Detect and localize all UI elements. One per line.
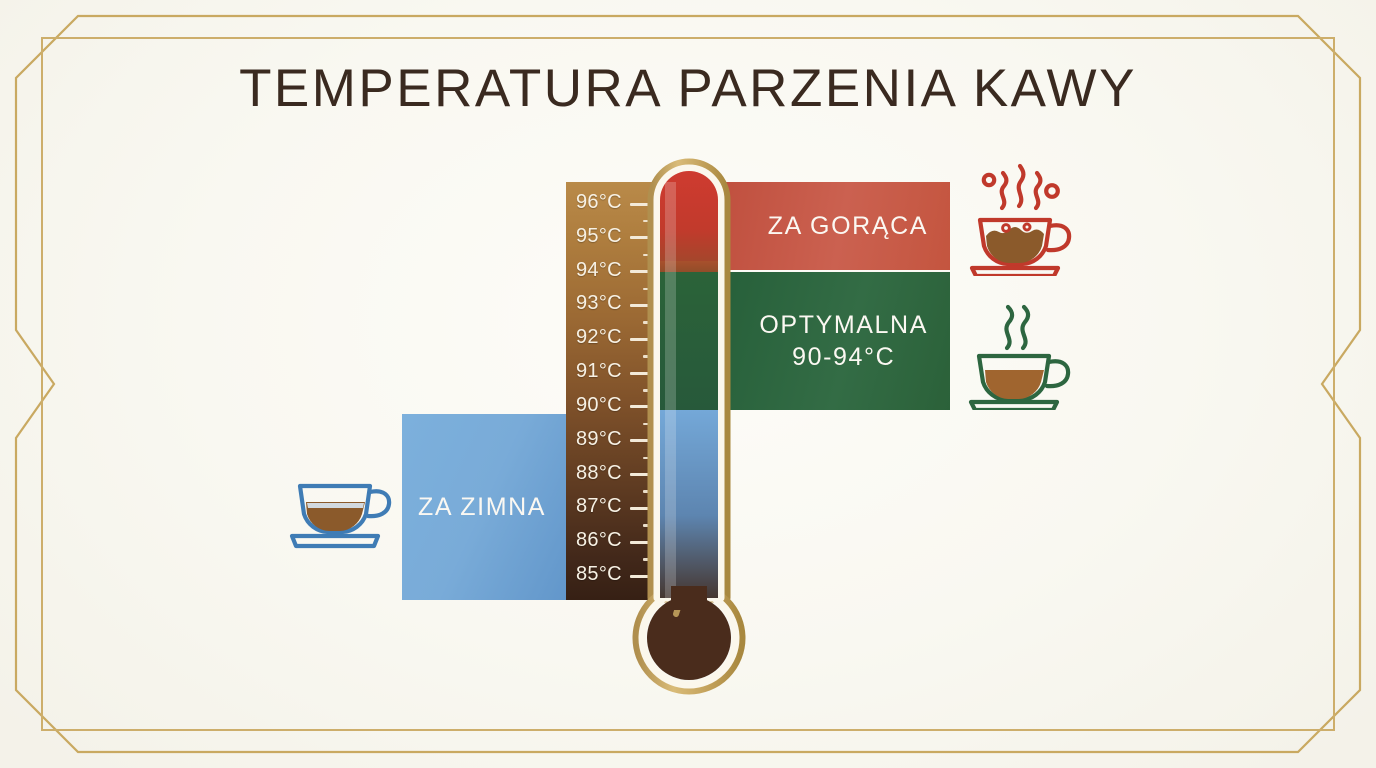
scale-tick-label: 95°C bbox=[576, 225, 622, 248]
scale-tick-label: 94°C bbox=[576, 259, 622, 282]
cup-saucer bbox=[972, 268, 1058, 276]
bulb-neck bbox=[671, 586, 707, 610]
scale-tick-label: 86°C bbox=[576, 529, 622, 552]
cup-handle bbox=[1048, 225, 1069, 250]
scale-tick-label: 92°C bbox=[576, 326, 622, 349]
cup-handle bbox=[368, 491, 389, 516]
scale-tick-label: 87°C bbox=[576, 495, 622, 518]
coffee-surface bbox=[307, 503, 364, 508]
steam-icon bbox=[984, 166, 1058, 208]
cold-coffee-cup-icon bbox=[286, 470, 398, 559]
zone-panel-too-cold: ZA ZIMNA bbox=[402, 414, 588, 600]
scale-tick-label: 89°C bbox=[576, 428, 622, 451]
hot-coffee-cup-icon bbox=[962, 158, 1082, 281]
glass-highlight bbox=[665, 182, 676, 602]
zone-label-optimal: OPTYMALNA bbox=[759, 309, 928, 341]
steam-icon bbox=[1006, 307, 1028, 348]
scale-tick-label: 93°C bbox=[576, 292, 622, 315]
page-title: TEMPERATURA PARZENIA KAWY bbox=[0, 58, 1376, 119]
cup-handle bbox=[1047, 361, 1068, 386]
optimal-coffee-cup-icon bbox=[963, 298, 1081, 415]
zone-panel-too-hot: ZA GORĄCA bbox=[724, 182, 950, 270]
scale-tick-label: 90°C bbox=[576, 394, 622, 417]
fill-too-cold bbox=[654, 410, 724, 602]
zone-panel-optimal: OPTYMALNA 90-94°C bbox=[724, 272, 950, 410]
scale-tick-label: 85°C bbox=[576, 563, 622, 586]
thermometer bbox=[624, 146, 754, 706]
cup-saucer bbox=[292, 536, 378, 546]
scale-tick-label: 96°C bbox=[576, 191, 622, 214]
scale-tick-label: 91°C bbox=[576, 360, 622, 383]
cup-saucer bbox=[971, 402, 1057, 410]
scale-tick-label: 88°C bbox=[576, 462, 622, 485]
fill-optimal bbox=[654, 272, 724, 410]
infographic-canvas: TEMPERATURA PARZENIA KAWY ZA GORĄCA OPTY… bbox=[0, 0, 1376, 768]
zone-label-too-cold: ZA ZIMNA bbox=[418, 491, 546, 523]
zone-label-too-hot: ZA GORĄCA bbox=[768, 210, 928, 242]
thermometer-fill bbox=[654, 166, 724, 602]
zone-range-optimal: 90-94°C bbox=[759, 341, 928, 373]
